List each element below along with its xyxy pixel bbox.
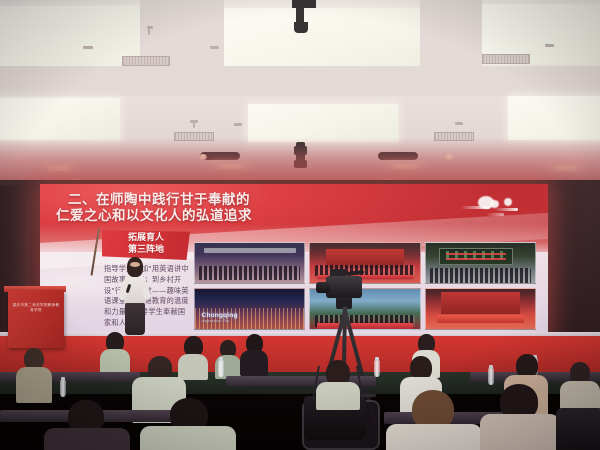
presenter-hair xyxy=(127,257,143,277)
ceiling-light-panel xyxy=(0,6,140,68)
ceiling-light-panel xyxy=(248,104,398,142)
sprinkler-head xyxy=(210,46,219,49)
photo-caption-chongqing: Chongqing xyxy=(202,312,238,319)
sprinkler-head xyxy=(193,123,195,128)
air-vent xyxy=(122,56,170,66)
audience-person xyxy=(100,332,130,372)
led-presentation-screen: 二、在师陶中践行甘于奉献的 仁爱之心和以文化人的弘道追求 拓展育人 第三阵地 指… xyxy=(40,184,548,338)
photo-cell-group-photo-on-stage xyxy=(194,242,305,284)
photo-cell-classroom-lesson xyxy=(425,242,536,284)
presenter xyxy=(118,258,152,340)
sprinkler-head xyxy=(83,46,93,49)
audience-area xyxy=(0,338,600,450)
water-bottle xyxy=(374,360,380,377)
sprinkler-head xyxy=(455,122,463,125)
audience-person xyxy=(140,398,236,450)
audience-person xyxy=(44,400,130,450)
photo-cell-chongqing-night-city: Chongqing Impression City xyxy=(194,288,305,330)
slide-title: 二、在师陶中践行甘于奉献的 仁爱之心和以文化人的弘道追求 xyxy=(68,192,428,225)
podium-label: 重庆市第二师范学院教师教育学院 xyxy=(12,303,60,313)
audience-person xyxy=(386,390,482,450)
ceiling-light-panel xyxy=(222,8,422,74)
audience-person xyxy=(316,360,360,406)
flag-label-line-1: 拓展育人 xyxy=(106,232,186,244)
ceiling-speaker xyxy=(294,22,308,33)
photo-subcaption-chongqing: Impression City xyxy=(202,319,230,323)
ceiling xyxy=(0,0,600,186)
water-bottle xyxy=(488,368,494,385)
sprinkler-head xyxy=(234,123,242,126)
sprinkler-head xyxy=(545,44,554,47)
presenter-skirt xyxy=(125,303,145,335)
water-bottle xyxy=(60,380,66,397)
audience-person xyxy=(480,384,560,450)
photo-cell-red-forum-desk xyxy=(425,288,536,330)
flag-callout-label: 拓展育人 第三阵地 xyxy=(106,232,186,256)
slide-title-line-1: 二、在师陶中践行甘于奉献的 xyxy=(68,192,428,208)
slide-title-line-2: 仁爱之心和以文化人的弘道追求 xyxy=(56,208,428,224)
ceiling-soffit xyxy=(0,66,600,96)
audience-person xyxy=(240,334,268,374)
ceiling-light-panel xyxy=(0,98,120,140)
conference-hall-scene: 二、在师陶中践行甘于奉献的 仁爱之心和以文化人的弘道追求 拓展育人 第三阵地 指… xyxy=(0,0,600,450)
video-camera-body xyxy=(326,276,362,298)
water-bottle xyxy=(218,360,224,377)
camera-lens-icon xyxy=(316,282,330,293)
cloud-ornament-icon xyxy=(460,194,522,216)
audience-chair xyxy=(556,408,600,450)
sprinkler-head xyxy=(148,29,150,35)
ceiling-light-panel xyxy=(508,96,600,140)
flag-label-line-2: 第三阵地 xyxy=(106,244,186,256)
air-vent xyxy=(482,54,530,64)
audience-person xyxy=(16,348,52,400)
